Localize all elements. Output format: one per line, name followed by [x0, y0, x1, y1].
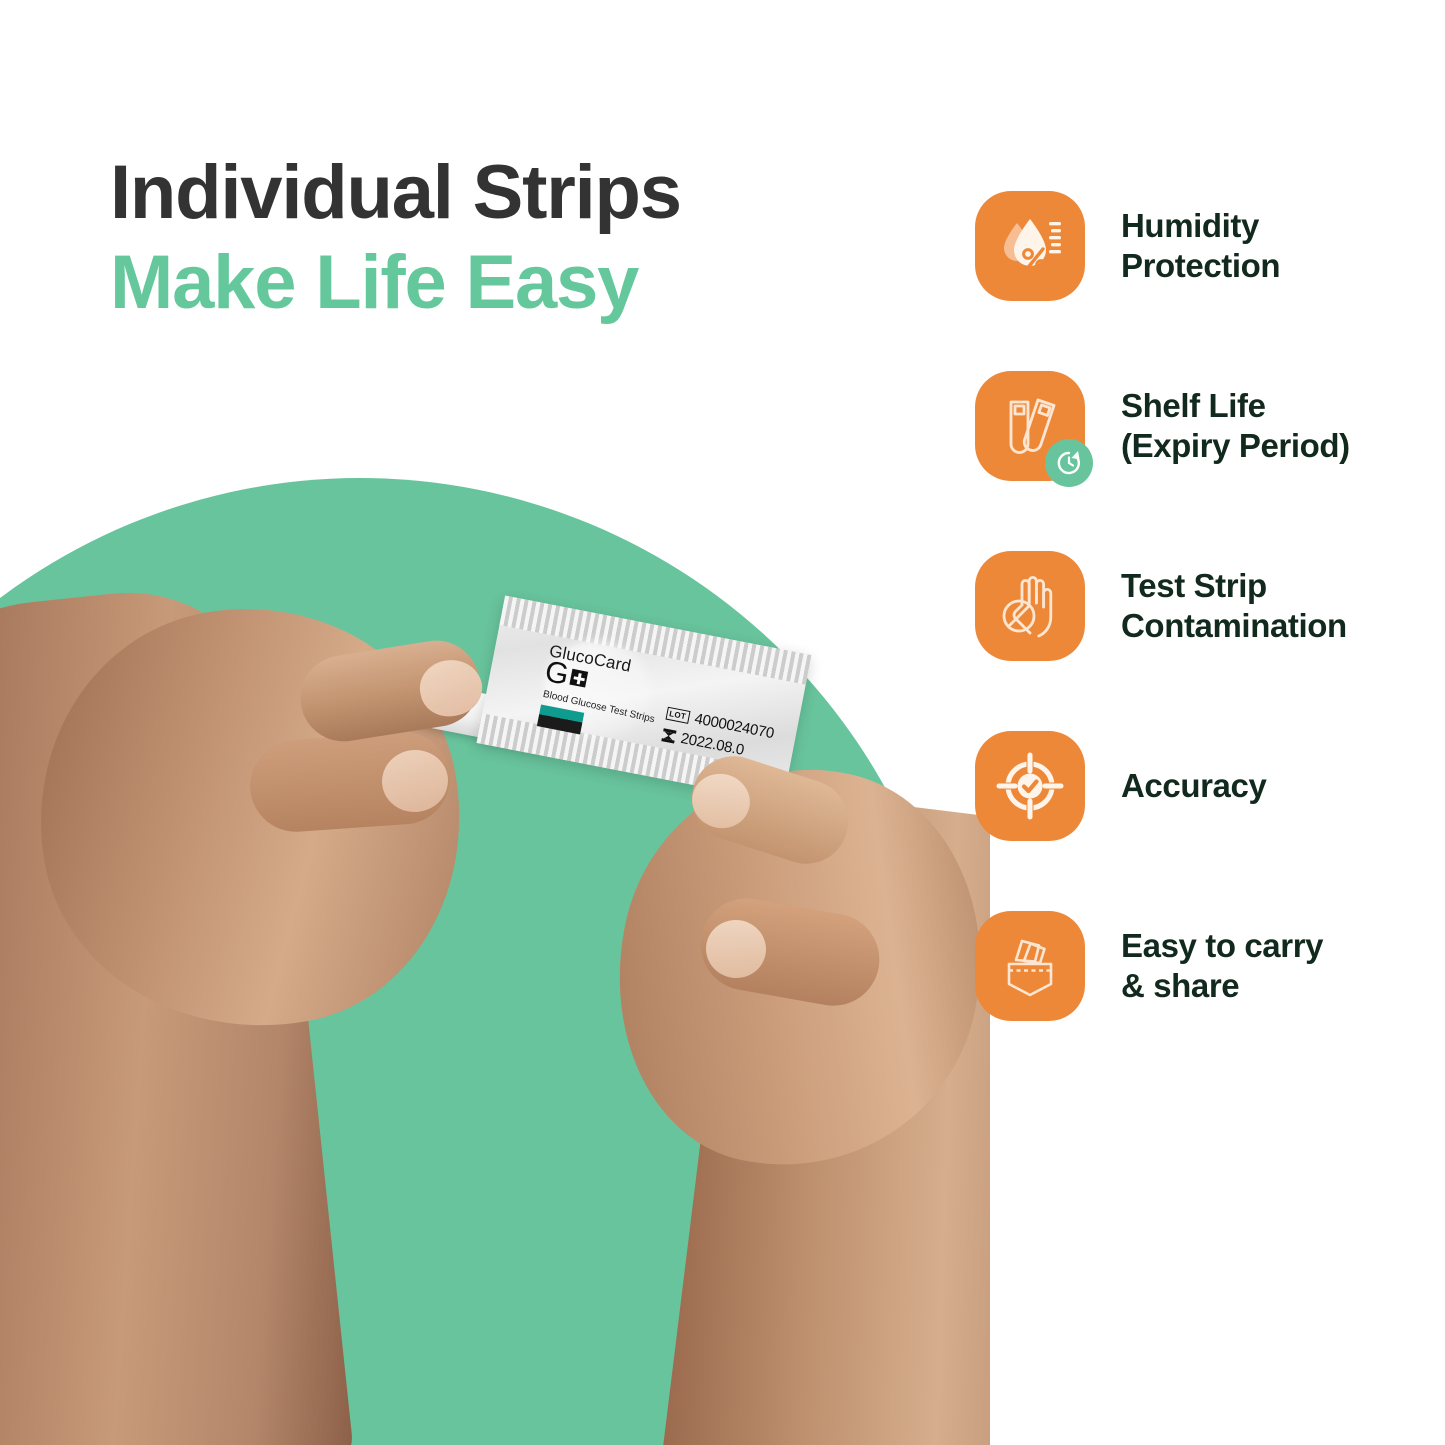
pocket-strips-icon — [975, 911, 1085, 1021]
feature-item-humidity-protection: Humidity Protection — [975, 190, 1405, 302]
headline-line-primary: Individual Strips — [110, 148, 910, 238]
lot-badge-icon: LOT — [665, 707, 690, 724]
feature-label: Humidity Protection — [1121, 206, 1280, 287]
feature-label: Shelf Life (Expiry Period) — [1121, 386, 1350, 467]
feature-label: Accuracy — [1121, 766, 1266, 806]
clock-rotate-icon — [1045, 439, 1093, 487]
crosshair-check-icon — [975, 731, 1085, 841]
humidity-drops-percent-icon — [975, 191, 1085, 301]
hourglass-icon — [661, 728, 676, 743]
page-title: Individual Strips Make Life Easy — [110, 148, 910, 327]
feature-item-test-strip-contamination: Test Strip Contamination — [975, 550, 1405, 662]
product-infographic-poster: Individual Strips Make Life Easy GlucoCa… — [0, 0, 1445, 1445]
plus-cross-icon — [570, 669, 589, 688]
feature-label: Easy to carry & share — [1121, 926, 1323, 1007]
feature-item-easy-to-carry: Easy to carry & share — [975, 910, 1405, 1022]
test-tubes-icon — [975, 371, 1085, 481]
feature-item-accuracy: Accuracy — [975, 730, 1405, 842]
feature-list: Humidity Protection — [975, 190, 1405, 1022]
headline-line-secondary: Make Life Easy — [110, 238, 910, 328]
feature-item-shelf-life: Shelf Life (Expiry Period) — [975, 370, 1405, 482]
product-photo: GlucoCard G Blood Glucose Test Strips LO… — [0, 478, 990, 1445]
product-logo-letter: G — [543, 657, 572, 691]
hand-prohibited-icon — [975, 551, 1085, 661]
feature-label: Test Strip Contamination — [1121, 566, 1347, 647]
